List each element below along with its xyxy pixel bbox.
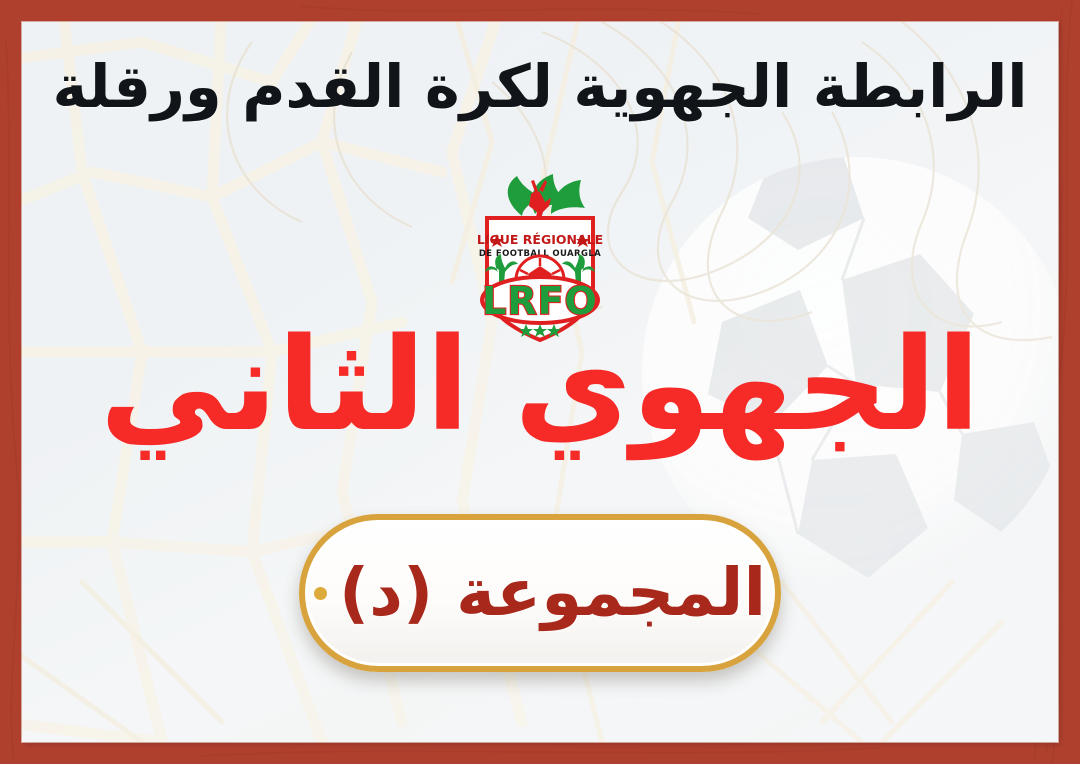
- green-flame-icon: [508, 174, 585, 216]
- main-heading: الجهوي الثاني: [22, 322, 1058, 450]
- poster-root: الرابطة الجهوية لكرة القدم ورقلة: [0, 0, 1080, 764]
- organization-title: الرابطة الجهوية لكرة القدم ورقلة: [22, 56, 1058, 118]
- poster-canvas: الرابطة الجهوية لكرة القدم ورقلة: [22, 22, 1058, 742]
- group-badge-inner: المجموعة (د): [314, 560, 766, 626]
- group-badge-label: المجموعة (د): [339, 560, 766, 626]
- logo-ligue-regionale: LIGUE RÉGIONALE: [477, 232, 603, 247]
- gold-dot-icon: [314, 587, 327, 600]
- group-badge[interactable]: المجموعة (د): [299, 514, 781, 672]
